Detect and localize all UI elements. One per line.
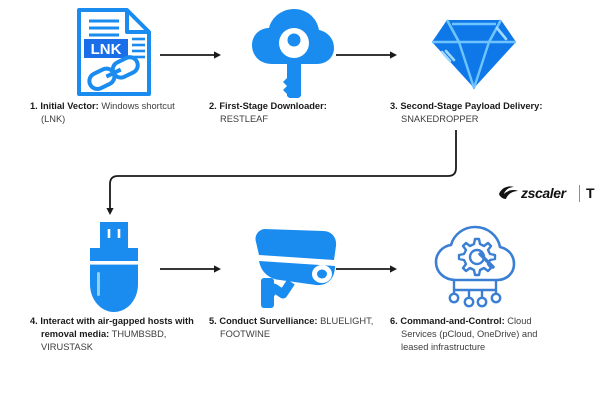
diamond-gem-icon (386, 4, 562, 100)
chain-step-1-title: Initial Vector: (40, 101, 98, 111)
zscaler-brand-lockup: zscaler T (497, 182, 600, 204)
chain-step-3-title: Second-Stage Payload Delivery: (400, 101, 542, 111)
chain-step-3-value: SNAKEDROPPER (401, 114, 479, 124)
chain-step-1-caption: 1. Initial Vector: Windows shortcut (LNK… (26, 100, 202, 126)
attack-chain-diagram: LNK 1. Initial Vector: Windows shortcut (0, 0, 600, 400)
chain-step-3: 3. Second-Stage Payload Delivery: SNAKED… (386, 4, 562, 126)
chain-step-4-caption: 4. Interact with air-gapped hosts with r… (26, 315, 202, 355)
chain-step-5-caption: 5. Conduct Survelliance: BLUELIGHT, FOOT… (205, 315, 381, 341)
chain-step-2-value: RESTLEAF (220, 114, 268, 124)
chain-step-4: 4. Interact with air-gapped hosts with r… (26, 219, 202, 355)
svg-text:LNK: LNK (91, 41, 122, 58)
chain-step-6-number: 6. (390, 316, 398, 326)
svg-text:zscaler: zscaler (520, 185, 568, 201)
chain-step-2-number: 2. (209, 101, 217, 111)
chain-step-1-number: 1. (30, 101, 38, 111)
chain-step-3-number: 3. (390, 101, 398, 111)
chain-step-5: 5. Conduct Survelliance: BLUELIGHT, FOOT… (205, 219, 381, 341)
chain-step-5-title: Conduct Survelliance: (219, 316, 317, 326)
zscaler-logo-icon: zscaler (497, 184, 571, 202)
chain-step-6-title: Command-and-Control: (400, 316, 504, 326)
chain-step-2: 2. First-Stage Downloader: RESTLEAF (205, 4, 381, 126)
chain-step-5-number: 5. (209, 316, 217, 326)
chain-step-4-number: 4. (30, 316, 38, 326)
arrow-wrap-down-left-icon-step3-step4 (100, 128, 470, 220)
chain-step-6: 6. Command-and-Control: Cloud Services (… (386, 219, 562, 355)
chain-step-1: LNK 1. Initial Vector: Windows shortcut (26, 4, 202, 126)
brand-divider (579, 185, 580, 202)
arrow-right-icon-step1-step2 (160, 50, 222, 60)
chain-step-2-caption: 2. First-Stage Downloader: RESTLEAF (205, 100, 381, 126)
arrow-right-icon-step5-step6 (336, 264, 398, 274)
chain-step-2-title: First-Stage Downloader: (219, 101, 326, 111)
arrow-right-icon-step2-step3 (336, 50, 398, 60)
chain-step-3-caption: 3. Second-Stage Payload Delivery: SNAKED… (386, 100, 562, 126)
cloud-gear-network-icon (386, 219, 562, 315)
chain-step-6-caption: 6. Command-and-Control: Cloud Services (… (386, 315, 562, 355)
arrow-right-icon-step4-step5 (160, 264, 222, 274)
partner-mark-initial: T (586, 185, 595, 201)
